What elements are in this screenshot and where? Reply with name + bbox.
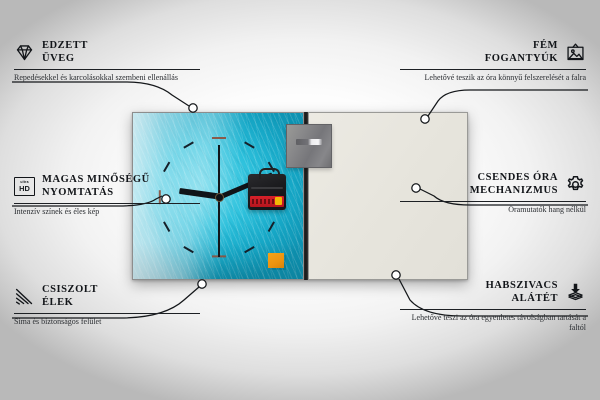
battery-bars (252, 199, 274, 204)
clock-mechanism-part (248, 174, 286, 210)
feature-title: CSISZOLTÉLEK (42, 284, 98, 309)
mechanism-hook (259, 168, 280, 179)
clock-tick (184, 141, 194, 148)
feature-title: CSENDES ÓRAMECHANIZMUS (470, 172, 558, 197)
feature-divider (400, 309, 586, 310)
feature-header: CSENDES ÓRAMECHANIZMUS (400, 172, 586, 197)
feature-header: HABSZIVACSALÁTÉT (400, 280, 586, 305)
battery-plus-terminal (275, 197, 282, 205)
feature-header: CSISZOLTÉLEK (14, 284, 200, 309)
clock-tick (244, 141, 254, 148)
diamond-icon (14, 42, 35, 63)
foam-pad-icon (565, 282, 586, 303)
feature-title: EDZETTÜVEG (42, 40, 88, 65)
feature-foam-pad: HABSZIVACSALÁTÉT Lehetővé teszi az óra e… (400, 280, 586, 333)
gear-icon (565, 174, 586, 195)
feature-metal-handles: FÉMFOGANTYÚK Lehetővé teszik az óra könn… (400, 40, 586, 83)
feature-description: Lehetővé teszi az óra egyenletes távolsá… (400, 313, 586, 333)
clock-tick (268, 222, 275, 232)
feature-divider (14, 313, 200, 314)
clock-tick (212, 137, 226, 139)
clock-tick (163, 162, 170, 172)
feature-title: HABSZIVACSALÁTÉT (486, 280, 558, 305)
feature-title: FÉMFOGANTYÚK (485, 40, 558, 65)
polished-edge-icon (14, 286, 35, 307)
connector-dot-tempered-glass (189, 104, 197, 112)
clock-tick (244, 246, 254, 253)
clock-center-hub (215, 193, 224, 202)
feature-divider (400, 201, 586, 202)
mechanism-seam (251, 187, 283, 189)
feature-title: MAGAS MINŐSÉGŰNYOMTATÁS (42, 174, 150, 199)
connector-tempered-glass (12, 82, 189, 106)
feature-high-quality-print: ultra HD MAGAS MINŐSÉGŰNYOMTATÁS Intenzí… (14, 174, 200, 217)
metal-hanger-part (286, 124, 332, 168)
feature-silent-mechanism: CSENDES ÓRAMECHANIZMUS Óramutatók hang n… (400, 172, 586, 215)
feature-description: Intenzív színek és éles kép (14, 207, 200, 217)
hanger-slot (296, 139, 322, 145)
feature-header: EDZETTÜVEG (14, 40, 200, 65)
foam-pad-part (268, 253, 284, 268)
infographic-canvas: EDZETTÜVEG Repedésekkel és karcolásokkal… (0, 0, 600, 400)
feature-divider (14, 203, 200, 204)
feature-polished-edges: CSISZOLTÉLEK Sima és biztonságos felület (14, 284, 200, 327)
feature-description: Sima és biztonságos felület (14, 317, 200, 327)
feature-description: Óramutatók hang nélkül (400, 205, 586, 215)
feature-divider (400, 69, 586, 70)
clock-tick (184, 246, 194, 253)
ultra-hd-main-text: HD (19, 185, 30, 192)
feature-description: Repedésekkel és karcolásokkal szembeni e… (14, 73, 200, 83)
feature-header: ultra HD MAGAS MINŐSÉGŰNYOMTATÁS (14, 174, 200, 199)
clock-tick (163, 222, 170, 232)
ultra-hd-icon: ultra HD (14, 176, 35, 197)
feature-header: FÉMFOGANTYÚK (400, 40, 586, 65)
feature-tempered-glass: EDZETTÜVEG Repedésekkel és karcolásokkal… (14, 40, 200, 83)
mechanism-battery (250, 196, 284, 207)
ultra-hd-badge: ultra HD (14, 177, 35, 196)
feature-divider (14, 69, 200, 70)
feature-description: Lehetővé teszik az óra könnyű felszerelé… (400, 73, 586, 83)
wall-frame-icon (565, 42, 586, 63)
